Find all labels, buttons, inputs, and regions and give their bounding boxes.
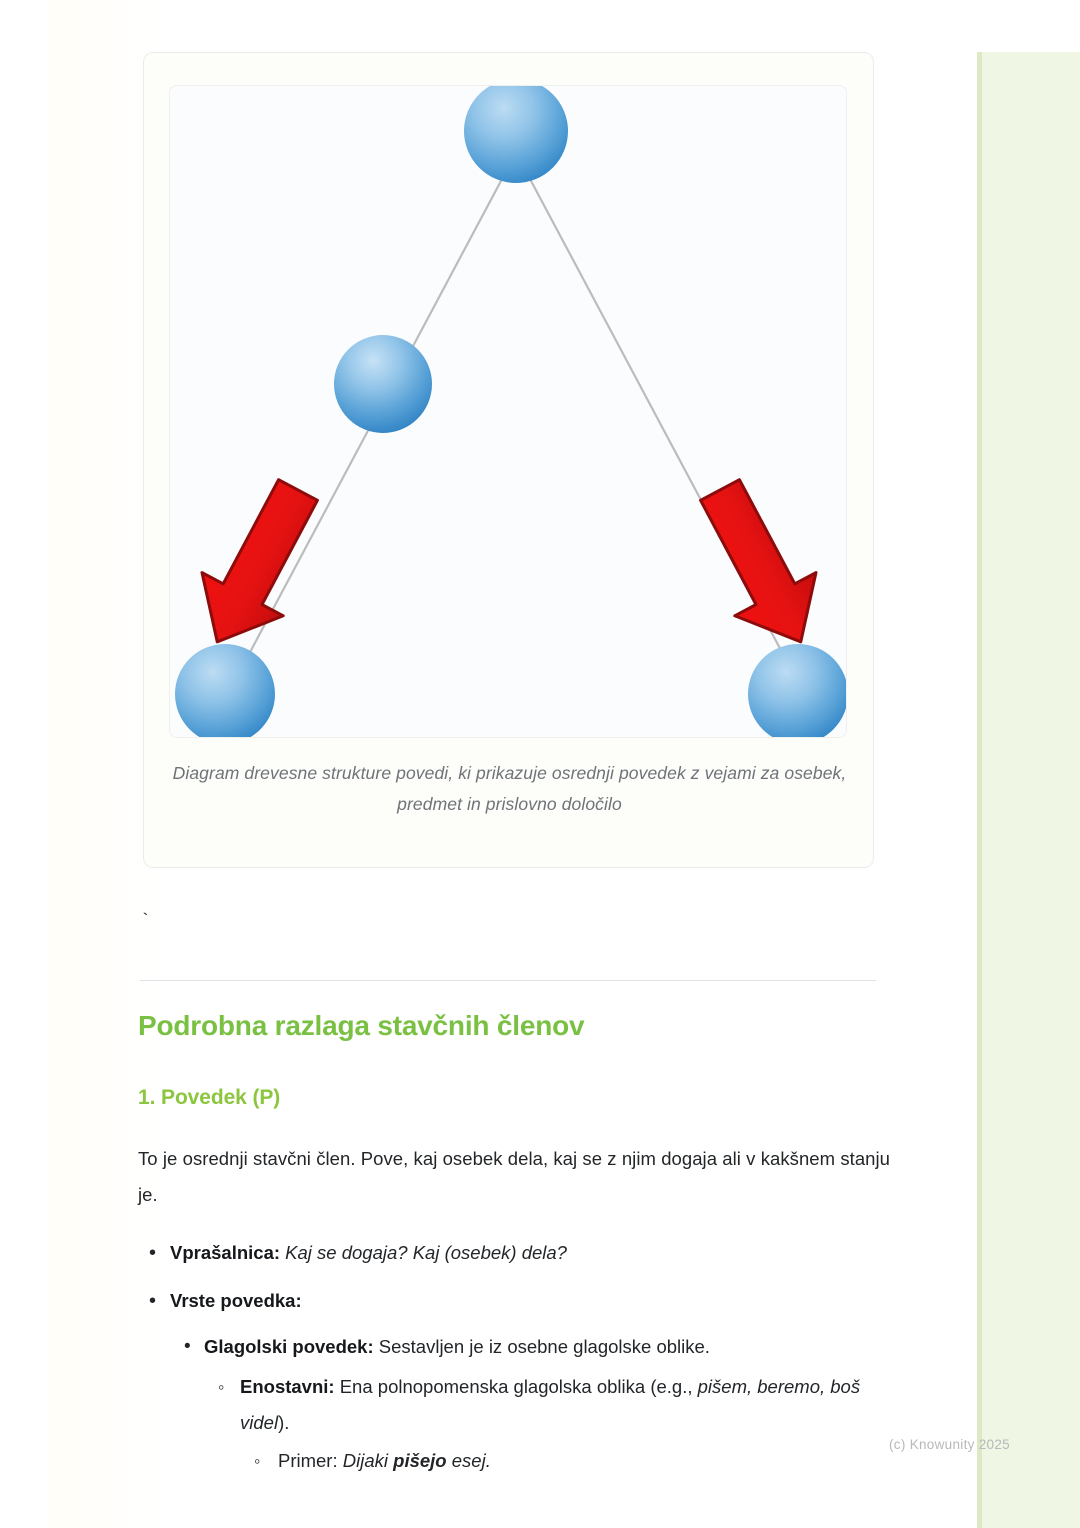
glagolski-text: Sestavljen je iz osebne glagolske oblike…: [379, 1336, 710, 1357]
arrow-right-icon: [679, 468, 841, 663]
right-stripe-edge: [977, 52, 982, 1528]
list-item-vrste-povedka: Vrste povedka: Glagolski povedek: Sestav…: [170, 1283, 890, 1479]
list-item-enostavni: Enostavni: Ena polnopomenska glagolska o…: [240, 1369, 890, 1479]
node-leaf-left: [175, 644, 275, 738]
figure-caption: Diagram drevesne strukture povedi, ki pr…: [172, 758, 847, 820]
list-item-vprasalnica: Vprašalnica: Kaj se dogaja? Kaj (osebek)…: [170, 1235, 890, 1271]
right-decorative-stripe: [977, 52, 1080, 1528]
primer-text-b: esej.: [452, 1450, 491, 1471]
diagram-edges: [232, 164, 800, 686]
node-leaf-right: [748, 644, 847, 738]
enostavni-text-b: ).: [278, 1412, 289, 1433]
copyright-watermark: (c) Knowunity 2025: [889, 1437, 1010, 1452]
enostavni-text-a: Ena polnopomenska glagolska oblika (e.g.…: [340, 1376, 693, 1397]
list-item-primer: Primer: Dijaki pišejo esej.: [278, 1443, 890, 1479]
vprasalnica-text: Kaj se dogaja? Kaj (osebek) dela?: [285, 1242, 567, 1263]
tree-diagram: [170, 86, 847, 738]
node-mid-left: [334, 335, 432, 433]
page-title: Podrobna razlaga stavčnih členov: [138, 1008, 890, 1044]
content-body: Podrobna razlaga stavčnih členov 1. Pove…: [138, 1008, 890, 1491]
primer-text-bold: pišejo: [393, 1450, 446, 1471]
bullet-list-level3: Enostavni: Ena polnopomenska glagolska o…: [204, 1369, 890, 1479]
diagram-panel: [169, 85, 847, 738]
diagram-nodes: [175, 86, 847, 738]
section-heading: 1. Povedek (P): [138, 1084, 890, 1112]
arrow-left-icon: [177, 468, 339, 663]
stray-backtick-char: `: [140, 912, 151, 932]
list-item-glagolski: Glagolski povedek: Sestavljen je iz oseb…: [204, 1329, 890, 1479]
bullet-list-level1: Vprašalnica: Kaj se dogaja? Kaj (osebek)…: [138, 1235, 890, 1479]
glagolski-label: Glagolski povedek:: [204, 1336, 374, 1357]
enostavni-label: Enostavni:: [240, 1376, 335, 1397]
bullet-list-level2: Glagolski povedek: Sestavljen je iz oseb…: [170, 1329, 890, 1479]
figure-card: Diagram drevesne strukture povedi, ki pr…: [143, 52, 874, 868]
primer-text-a: Dijaki: [343, 1450, 388, 1471]
node-root: [464, 86, 568, 183]
bullet-list-level4: Primer: Dijaki pišejo esej.: [240, 1443, 890, 1479]
section-divider: [140, 980, 876, 981]
vprasalnica-label: Vprašalnica:: [170, 1242, 280, 1263]
intro-paragraph: To je osrednji stavčni člen. Pove, kaj o…: [138, 1141, 890, 1213]
vrste-povedka-label: Vrste povedka:: [170, 1290, 302, 1311]
primer-label: Primer:: [278, 1450, 338, 1471]
document-page: Diagram drevesne strukture povedi, ki pr…: [48, 0, 978, 1528]
